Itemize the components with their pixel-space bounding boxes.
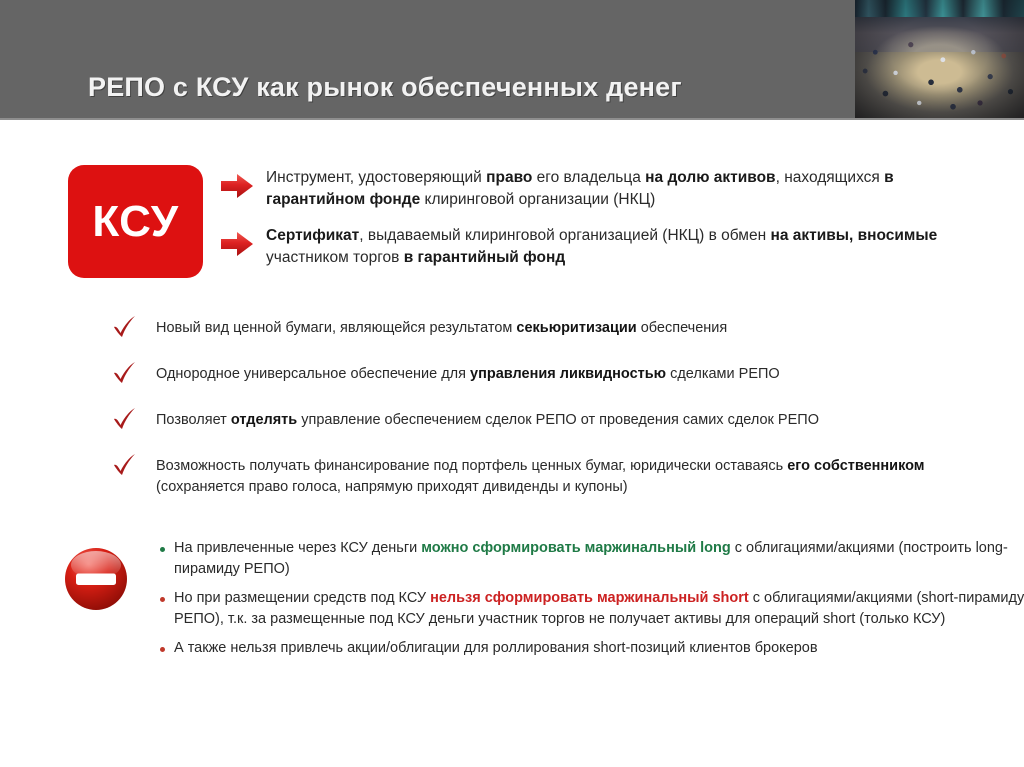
check-mark-icon [112, 315, 138, 341]
check-mark-icon [112, 453, 138, 479]
list-item: На привлеченные через КСУ деньги можно с… [160, 538, 1024, 581]
check-mark-icon [112, 407, 138, 433]
restriction-text-3: А также нельзя привлечь акции/облигации … [174, 638, 818, 659]
definition-row: Инструмент, удостоверяющий право его вла… [220, 167, 968, 211]
list-item: Позволяет отделять управление обеспечени… [112, 407, 1012, 433]
page-title: РЕПО с КСУ как рынок обеспеченных денег [88, 72, 682, 103]
no-entry-icon [63, 546, 129, 612]
ksu-badge-label: КСУ [92, 200, 178, 244]
advantages-list: Новый вид ценной бумаги, являющейся резу… [112, 315, 1012, 518]
definition-text-2: Сертификат, выдаваемый клиринговой орган… [266, 225, 968, 269]
advantage-text-2: Однородное универсальное обеспечение для… [156, 361, 780, 385]
list-item: Однородное универсальное обеспечение для… [112, 361, 1012, 387]
advantage-text-4: Возможность получать финансирование под … [156, 453, 1012, 498]
arrow-right-icon [220, 173, 254, 199]
restrictions-list: На привлеченные через КСУ деньги можно с… [160, 538, 1024, 666]
restriction-text-2: Но при размещении средств под КСУ нельзя… [174, 588, 1024, 631]
definition-text-1: Инструмент, удостоверяющий право его вла… [266, 167, 968, 211]
definition-row: Сертификат, выдаваемый клиринговой орган… [220, 225, 968, 269]
list-item: Новый вид ценной бумаги, являющейся резу… [112, 315, 1012, 341]
list-item: Возможность получать финансирование под … [112, 453, 1012, 498]
bullet-dot-green [160, 547, 165, 552]
trading-floor-photo [855, 0, 1024, 118]
ksu-definition-block: КСУ [68, 165, 968, 290]
arrow-right-icon [220, 231, 254, 257]
photo-vignette [855, 0, 1024, 118]
bullet-dot-red [160, 647, 165, 652]
slide-body: КСУ [0, 120, 1024, 767]
bullet-dot-red [160, 597, 165, 602]
advantage-text-1: Новый вид ценной бумаги, являющейся резу… [156, 315, 727, 339]
ksu-badge: КСУ [68, 165, 203, 278]
list-item: Но при размещении средств под КСУ нельзя… [160, 588, 1024, 631]
list-item: А также нельзя привлечь акции/облигации … [160, 638, 1024, 659]
advantage-text-3: Позволяет отделять управление обеспечени… [156, 407, 819, 431]
definition-rows: Инструмент, удостоверяющий право его вла… [220, 167, 968, 283]
check-mark-icon [112, 361, 138, 387]
restriction-text-1: На привлеченные через КСУ деньги можно с… [174, 538, 1024, 581]
